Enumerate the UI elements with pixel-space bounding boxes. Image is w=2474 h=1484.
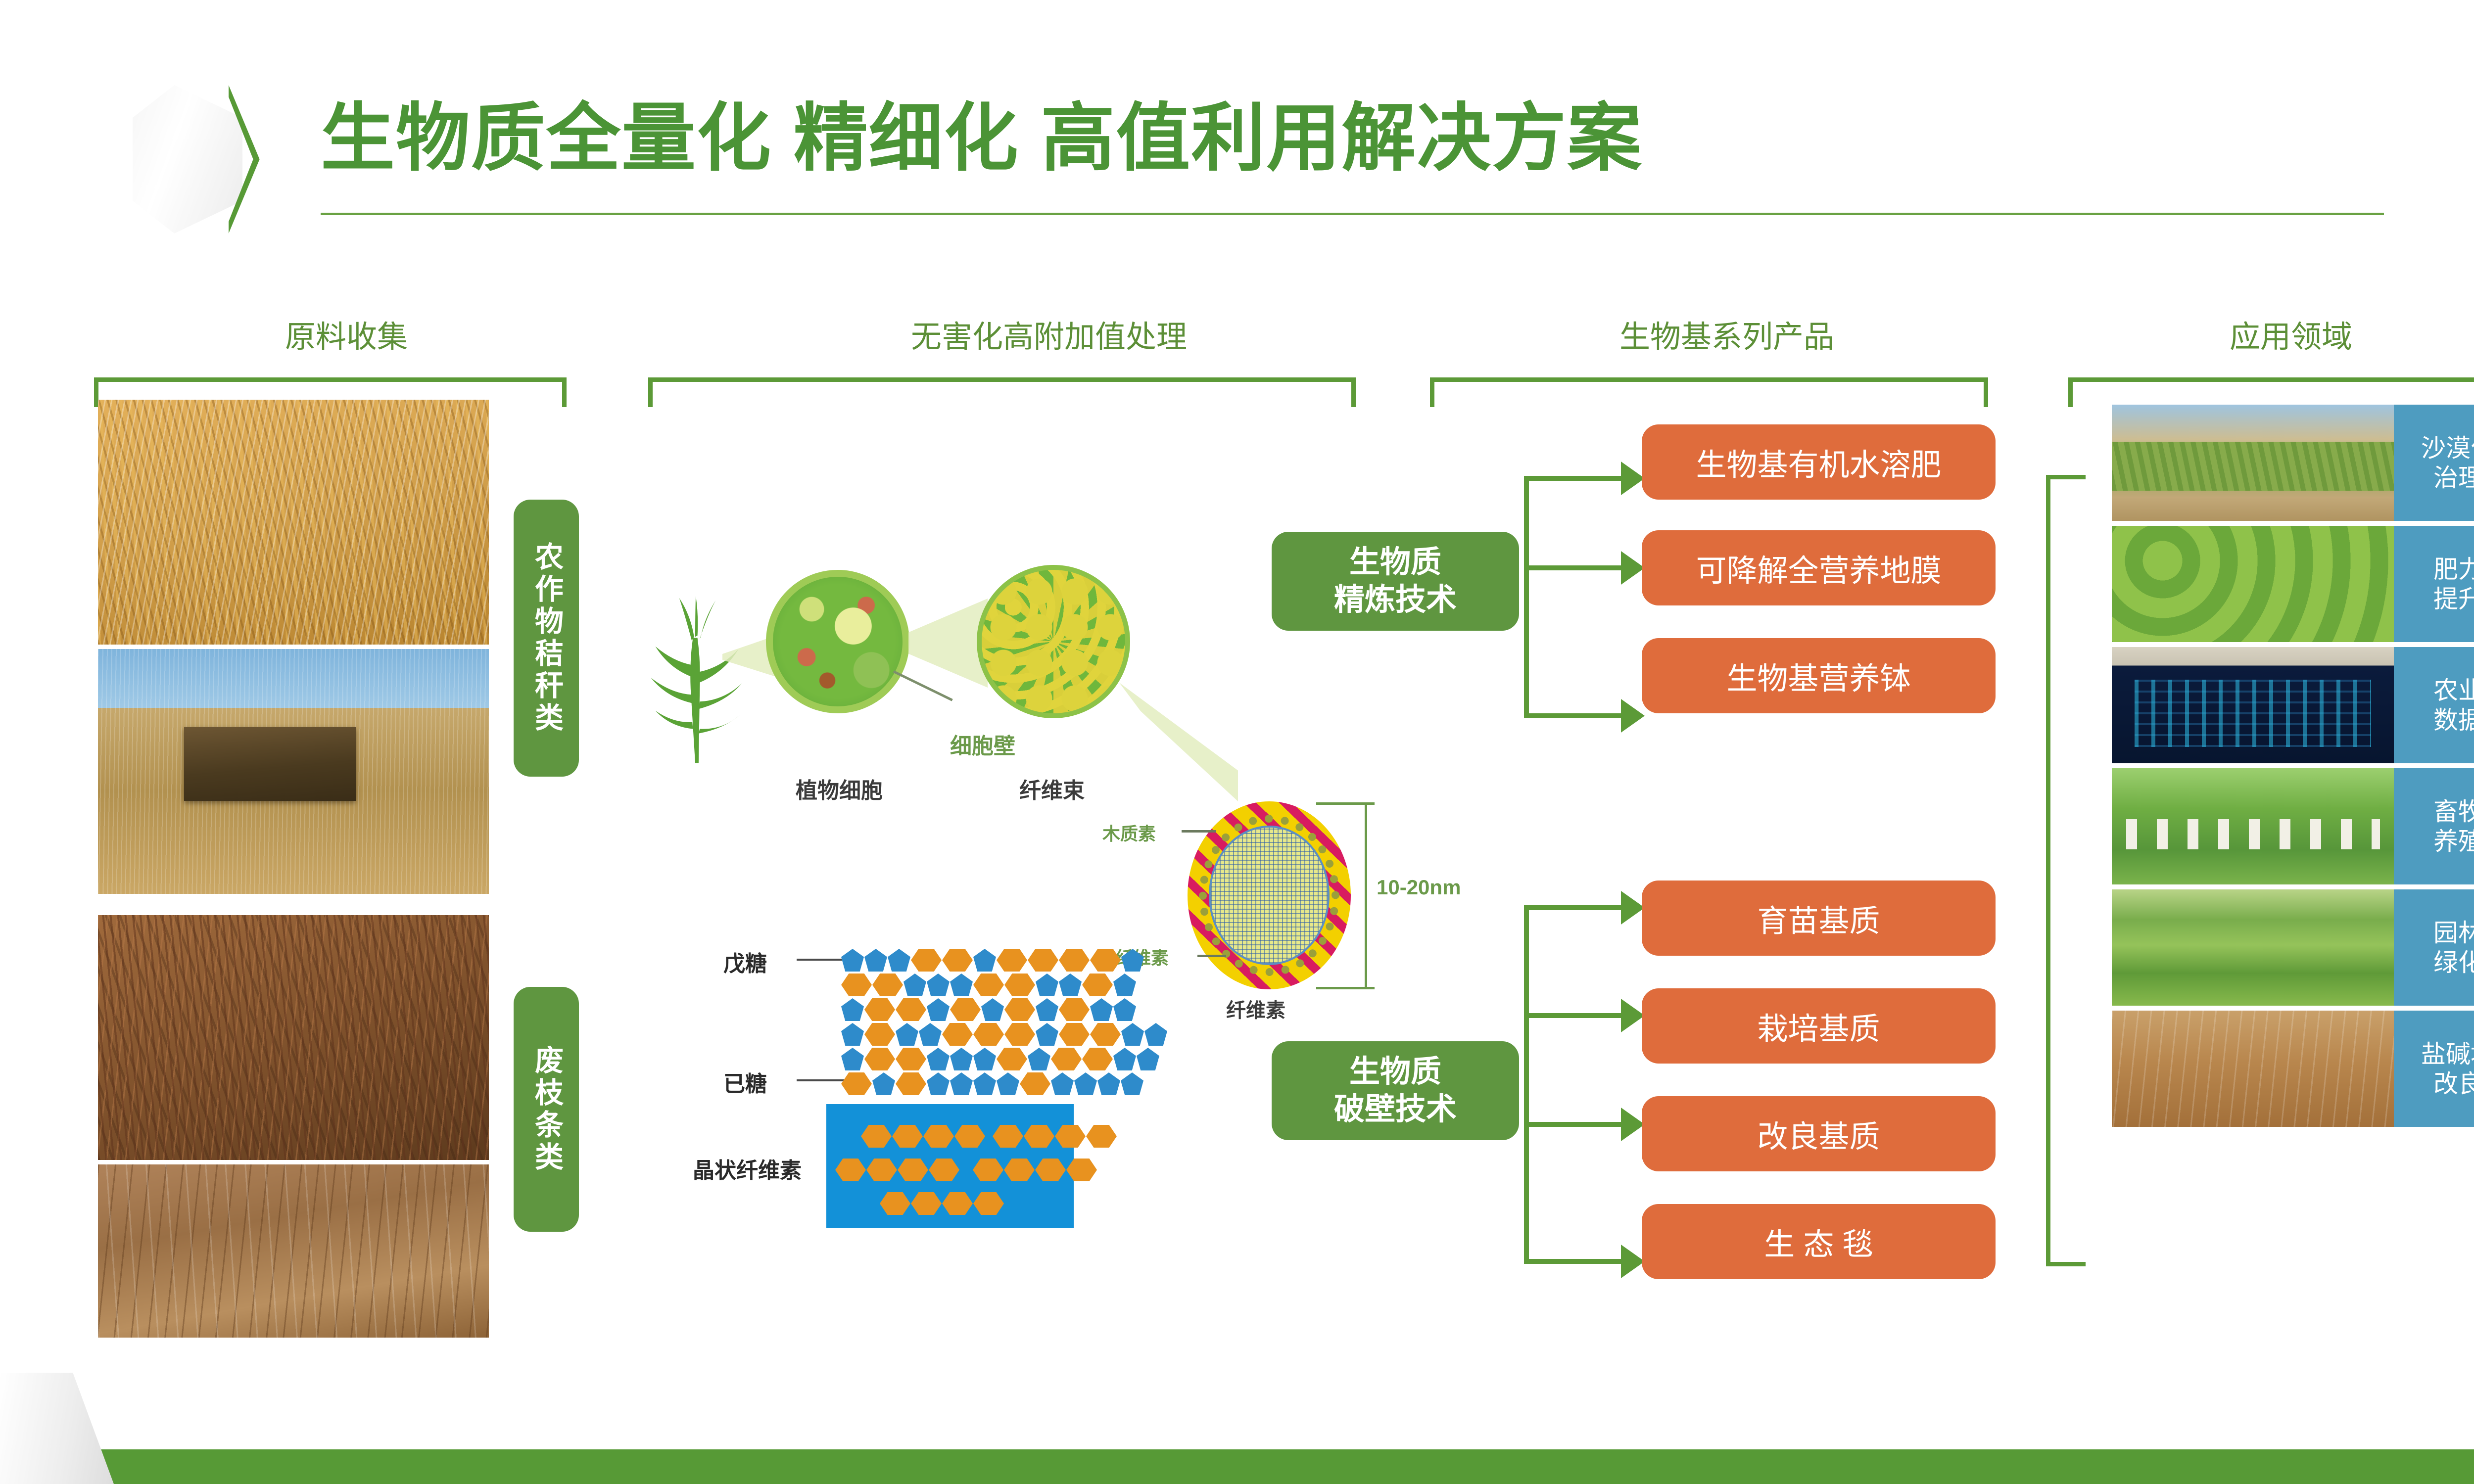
slide-canvas: 生物质全量化 精细化 高值利用解决方案 原料收集 无害化高附加值处理 生物基系列…: [0, 0, 2474, 1484]
application-tag-landscaping: 园林 绿化: [2394, 889, 2474, 1006]
technology-label-line2: 破壁技术: [1334, 1091, 1457, 1128]
dimension-line-vertical: [1365, 802, 1367, 989]
product-pill-cultivation-substrate[interactable]: 栽培基质: [1642, 988, 1996, 1064]
zoom-cone-fiber-to-nano: [1119, 683, 1238, 801]
label-lignin: 木质素: [1102, 820, 1156, 845]
application-photo-landscaping: [2112, 889, 2394, 1006]
application-tag-saline-land: 盐碱地 改良: [2394, 1011, 2474, 1127]
raw-material-category-waste-branches: 废枝条类: [514, 987, 579, 1232]
dimension-tick-top: [1316, 802, 1375, 805]
technology-label-line2: 精炼技术: [1334, 581, 1457, 619]
footer-bar: [0, 1449, 2474, 1484]
application-photo-saline-land: [2112, 1011, 2394, 1127]
connector-trunk-group1: [1524, 476, 1529, 718]
hexagon-badge-icon: [133, 85, 242, 233]
application-row-landscaping[interactable]: 园林 绿化: [2112, 889, 2474, 1006]
arrow-to-product-5: [1621, 999, 1645, 1032]
raw-material-category-crop-straw: 农作物秸秆类: [514, 500, 579, 777]
application-photo-livestock: [2112, 768, 2394, 884]
label-fiber-bundle: 纤维束: [1019, 773, 1085, 804]
application-row-livestock[interactable]: 畜牧 养殖: [2112, 768, 2474, 884]
technology-pill-refining[interactable]: 生物质 精炼技术: [1272, 532, 1519, 631]
product-label: 生物基营养钵: [1726, 653, 1910, 698]
dimension-tick-bottom: [1316, 987, 1375, 989]
technology-label-line1: 生物质: [1349, 544, 1441, 581]
technology-pill-wall-breaking[interactable]: 生物质 破壁技术: [1272, 1041, 1519, 1140]
product-label: 栽培基质: [1757, 1004, 1880, 1048]
product-pill-improvement-substrate[interactable]: 改良基质: [1642, 1096, 1996, 1171]
sugar-chain-row: [841, 974, 1137, 996]
product-pill-nutrition-pot[interactable]: 生物基营养钵: [1642, 638, 1996, 713]
leader-line-hemicellulose: [1197, 955, 1226, 957]
footer-wedge-decoration: [0, 1373, 114, 1484]
section-header-products: 生物基系列产品: [1435, 312, 2019, 356]
grass-plant-icon: [638, 549, 752, 806]
sugar-chain-row: [841, 998, 1137, 1021]
application-tag-livestock: 畜牧 养殖: [2394, 768, 2474, 884]
crystalline-cellulose-panel: [826, 1104, 1074, 1228]
leader-line-cell-wall: [893, 670, 953, 701]
section-header-processing: 无害化高附加值处理: [703, 312, 1395, 356]
section-header-applications: 应用领域: [2044, 312, 2474, 356]
connector-branch-group1-3: [1524, 713, 1623, 718]
arrow-to-product-2: [1621, 551, 1645, 585]
sugar-chain-row: [841, 1048, 1160, 1070]
raw-material-photo-vineyard: [98, 1164, 489, 1338]
connector-branch-group2-3: [1524, 1122, 1623, 1127]
raw-material-photo-twigs: [98, 915, 489, 1160]
application-row-desertification[interactable]: 沙漠化 治理: [2112, 405, 2474, 521]
sugar-chain-row: [841, 1023, 1168, 1046]
application-row-agri-data[interactable]: 农业 数据: [2112, 647, 2474, 763]
connector-branch-group2-1: [1524, 905, 1623, 910]
label-plant-cell: 植物细胞: [796, 773, 883, 804]
application-label-line1: 肥力: [2433, 555, 2474, 584]
cellulose-cross-section-illustration: [1188, 801, 1351, 989]
arrow-to-product-7: [1621, 1245, 1645, 1278]
label-hexose: 已糖: [723, 1066, 767, 1098]
page-title: 生物质全量化 精细化 高值利用解决方案: [321, 89, 1642, 187]
application-label-line2: 绿化: [2433, 948, 2474, 977]
product-label: 可降解全营养地膜: [1696, 546, 1941, 590]
technology-label-line1: 生物质: [1349, 1053, 1441, 1091]
sugar-chain-row: [841, 949, 1144, 972]
application-tag-desertification: 沙漠化 治理: [2394, 405, 2474, 521]
label-crystalline-cellulose: 晶状纤维素: [693, 1153, 802, 1184]
application-label-line1: 盐碱地: [2421, 1039, 2474, 1069]
bracket-applications-left: [2046, 475, 2086, 1266]
application-label-line2: 数据: [2433, 705, 2474, 735]
application-label-line2: 养殖: [2433, 827, 2474, 856]
product-label: 生物基有机水溶肥: [1696, 440, 1941, 484]
application-photo-agri-data: [2112, 647, 2394, 763]
raw-material-photo-straw-bale: [98, 649, 489, 894]
application-label-line1: 园林: [2433, 918, 2474, 948]
arrow-to-product-3: [1621, 699, 1645, 733]
connector-branch-group2-2: [1524, 1013, 1623, 1018]
application-photo-fertility: [2112, 526, 2394, 642]
arrow-to-product-6: [1621, 1108, 1645, 1141]
connector-trunk-group2: [1524, 905, 1529, 1264]
product-label: 生 态 毯: [1764, 1219, 1873, 1264]
product-pill-degradable-mulch-film[interactable]: 可降解全营养地膜: [1642, 530, 1996, 605]
application-tag-agri-data: 农业 数据: [2394, 647, 2474, 763]
title-divider: [321, 213, 2384, 215]
raw-material-photo-corn-straw: [98, 400, 489, 645]
label-cellulose: 纤维素: [1226, 994, 1285, 1023]
arrow-to-product-1: [1621, 462, 1645, 495]
connector-branch-group1-2: [1524, 565, 1623, 570]
application-label-line1: 畜牧: [2433, 797, 2474, 827]
label-pentose: 戊糖: [723, 946, 767, 977]
label-cell-wall: 细胞壁: [950, 728, 1015, 760]
connector-branch-group2-4: [1524, 1259, 1623, 1264]
bracket-processing: [648, 377, 1356, 407]
product-label: 改良基质: [1757, 1112, 1880, 1156]
section-header-raw-material: 原料收集: [188, 312, 505, 356]
application-label-line1: 农业: [2433, 676, 2474, 705]
application-photo-desertification: [2112, 405, 2394, 521]
connector-branch-group1-1: [1524, 476, 1623, 481]
application-row-saline-land[interactable]: 盐碱地 改良: [2112, 1011, 2474, 1127]
label-nano-dimension: 10-20nm: [1377, 876, 1461, 899]
application-row-fertility[interactable]: 肥力 提升: [2112, 526, 2474, 642]
leader-line-lignin: [1182, 830, 1216, 833]
zoom-cone-cell-to-fiber: [908, 599, 988, 688]
fiber-bundle-illustration: [977, 565, 1130, 718]
bracket-applications: [2068, 377, 2474, 407]
plant-cell-illustration: [766, 570, 909, 713]
application-label-line2: 改良: [2433, 1069, 2474, 1099]
product-label: 育苗基质: [1757, 896, 1880, 940]
product-pill-seedling-substrate[interactable]: 育苗基质: [1642, 881, 1996, 956]
sugar-chain-row: [841, 1072, 1144, 1095]
application-label-line2: 治理: [2433, 463, 2474, 493]
application-tag-fertility: 肥力 提升: [2394, 526, 2474, 642]
product-pill-water-soluble-fertilizer[interactable]: 生物基有机水溶肥: [1642, 424, 1996, 500]
application-label-line1: 沙漠化: [2421, 433, 2474, 463]
application-label-line2: 提升: [2433, 584, 2474, 614]
product-pill-ecological-blanket[interactable]: 生 态 毯: [1642, 1204, 1996, 1279]
bracket-products: [1430, 377, 1988, 407]
arrow-to-product-4: [1621, 891, 1645, 925]
